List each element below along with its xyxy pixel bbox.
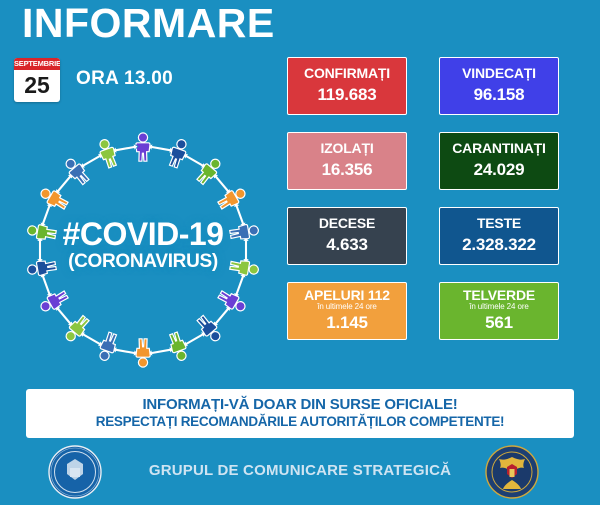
statistics-grid: CONFIRMAȚI119.683VINDECAȚI96.158IZOLAȚI1…	[287, 57, 559, 340]
message-line-1: INFORMAȚI-VĂ DOAR DIN SURSE OFICIALE!	[142, 396, 457, 415]
stat-value: 561	[485, 314, 513, 333]
stat-label: APELURI 112	[304, 288, 390, 303]
stat-box: IZOLAȚI16.356	[287, 132, 407, 190]
stat-label: TELVERDE	[463, 288, 535, 303]
stat-label: TESTE	[477, 216, 521, 231]
stat-box: DECESE4.633	[287, 207, 407, 265]
stat-label: DECESE	[319, 216, 375, 231]
stat-box: TESTE2.328.322	[439, 207, 559, 265]
stat-box: VINDECAȚI96.158	[439, 57, 559, 115]
stat-label: IZOLAȚI	[320, 141, 373, 156]
stat-value: 4.633	[326, 236, 368, 255]
stat-label: VINDECAȚI	[462, 66, 536, 81]
page-title: INFORMARE	[22, 2, 275, 45]
ministerul-afacerilor-interne-seal-icon	[483, 444, 541, 500]
stat-value: 1.145	[326, 314, 368, 333]
stat-value: 96.158	[474, 86, 525, 105]
calendar-month-label: SEPTEMBRIE	[14, 58, 60, 70]
stat-label: CARANTINAȚI	[452, 141, 545, 156]
stat-box: CARANTINAȚI24.029	[439, 132, 559, 190]
stat-box: TELVERDEîn ultimele 24 ore561	[439, 282, 559, 340]
calendar-day-label: 25	[14, 70, 60, 101]
stat-value: 119.683	[317, 86, 376, 105]
calendar-icon: SEPTEMBRIE 25	[14, 58, 60, 102]
stat-label: CONFIRMAȚI	[304, 66, 390, 81]
stat-value: 2.328.322	[462, 236, 536, 255]
stat-sublabel: în ultimele 24 ore	[317, 303, 377, 312]
social-distancing-circle-icon: #COVID-19 (CORONAVIRUS)	[18, 126, 268, 374]
hour-label: ORA 13.00	[76, 68, 173, 90]
official-sources-message-panel: INFORMAȚI-VĂ DOAR DIN SURSE OFICIALE! RE…	[26, 389, 574, 438]
stat-box: APELURI 112în ultimele 24 ore1.145	[287, 282, 407, 340]
message-line-2: RESPECTAȚI RECOMANDĂRILE AUTORITĂȚILOR C…	[96, 414, 505, 431]
stat-sublabel: în ultimele 24 ore	[469, 303, 529, 312]
stat-value: 16.356	[322, 161, 373, 180]
stat-box: CONFIRMAȚI119.683	[287, 57, 407, 115]
stat-value: 24.029	[474, 161, 525, 180]
